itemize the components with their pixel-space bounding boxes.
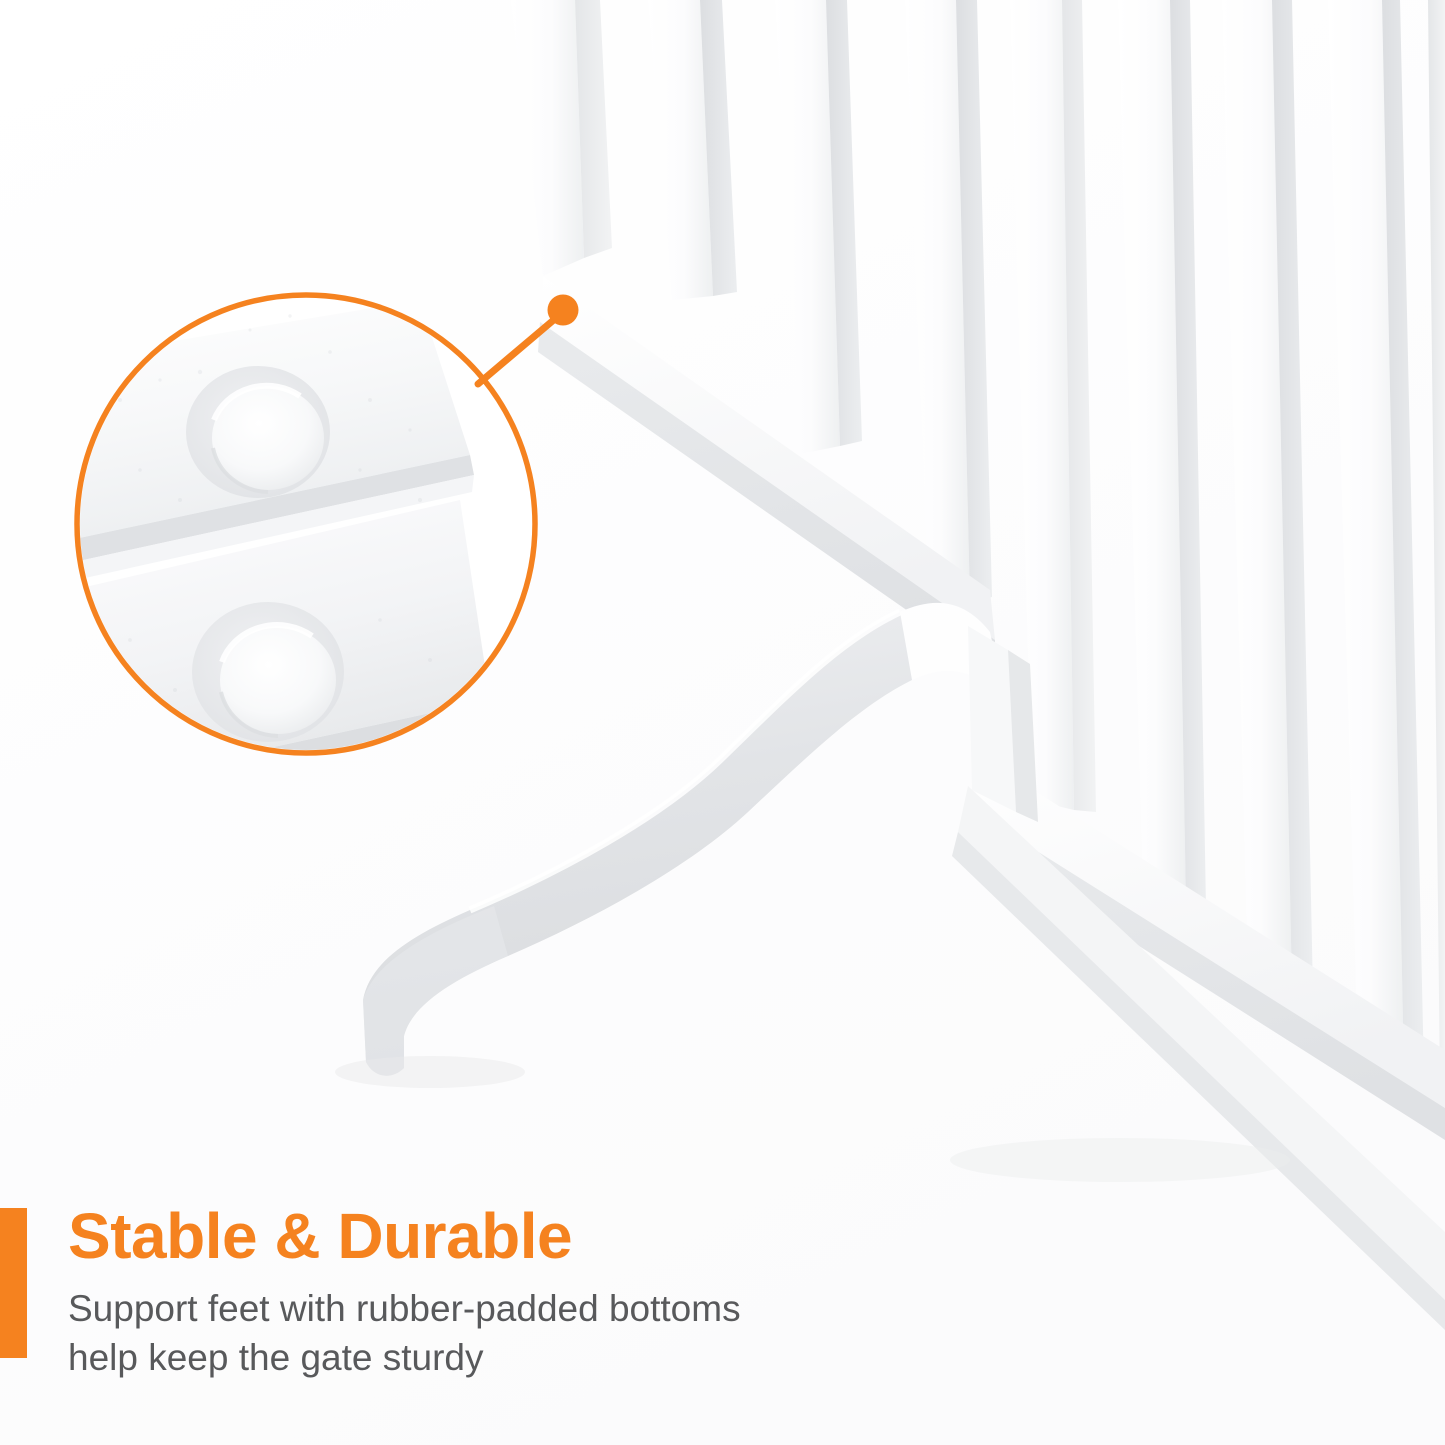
product-feature-image: Stable & Durable Support feet with rubbe…: [0, 0, 1445, 1445]
subheadline: Support feet with rubber-padded bottoms …: [68, 1284, 748, 1382]
headline: Stable & Durable: [68, 1200, 748, 1272]
caption-text-group: Stable & Durable Support feet with rubbe…: [27, 1200, 748, 1382]
accent-bar: [0, 1208, 27, 1358]
caption-block: Stable & Durable Support feet with rubbe…: [0, 1200, 820, 1382]
